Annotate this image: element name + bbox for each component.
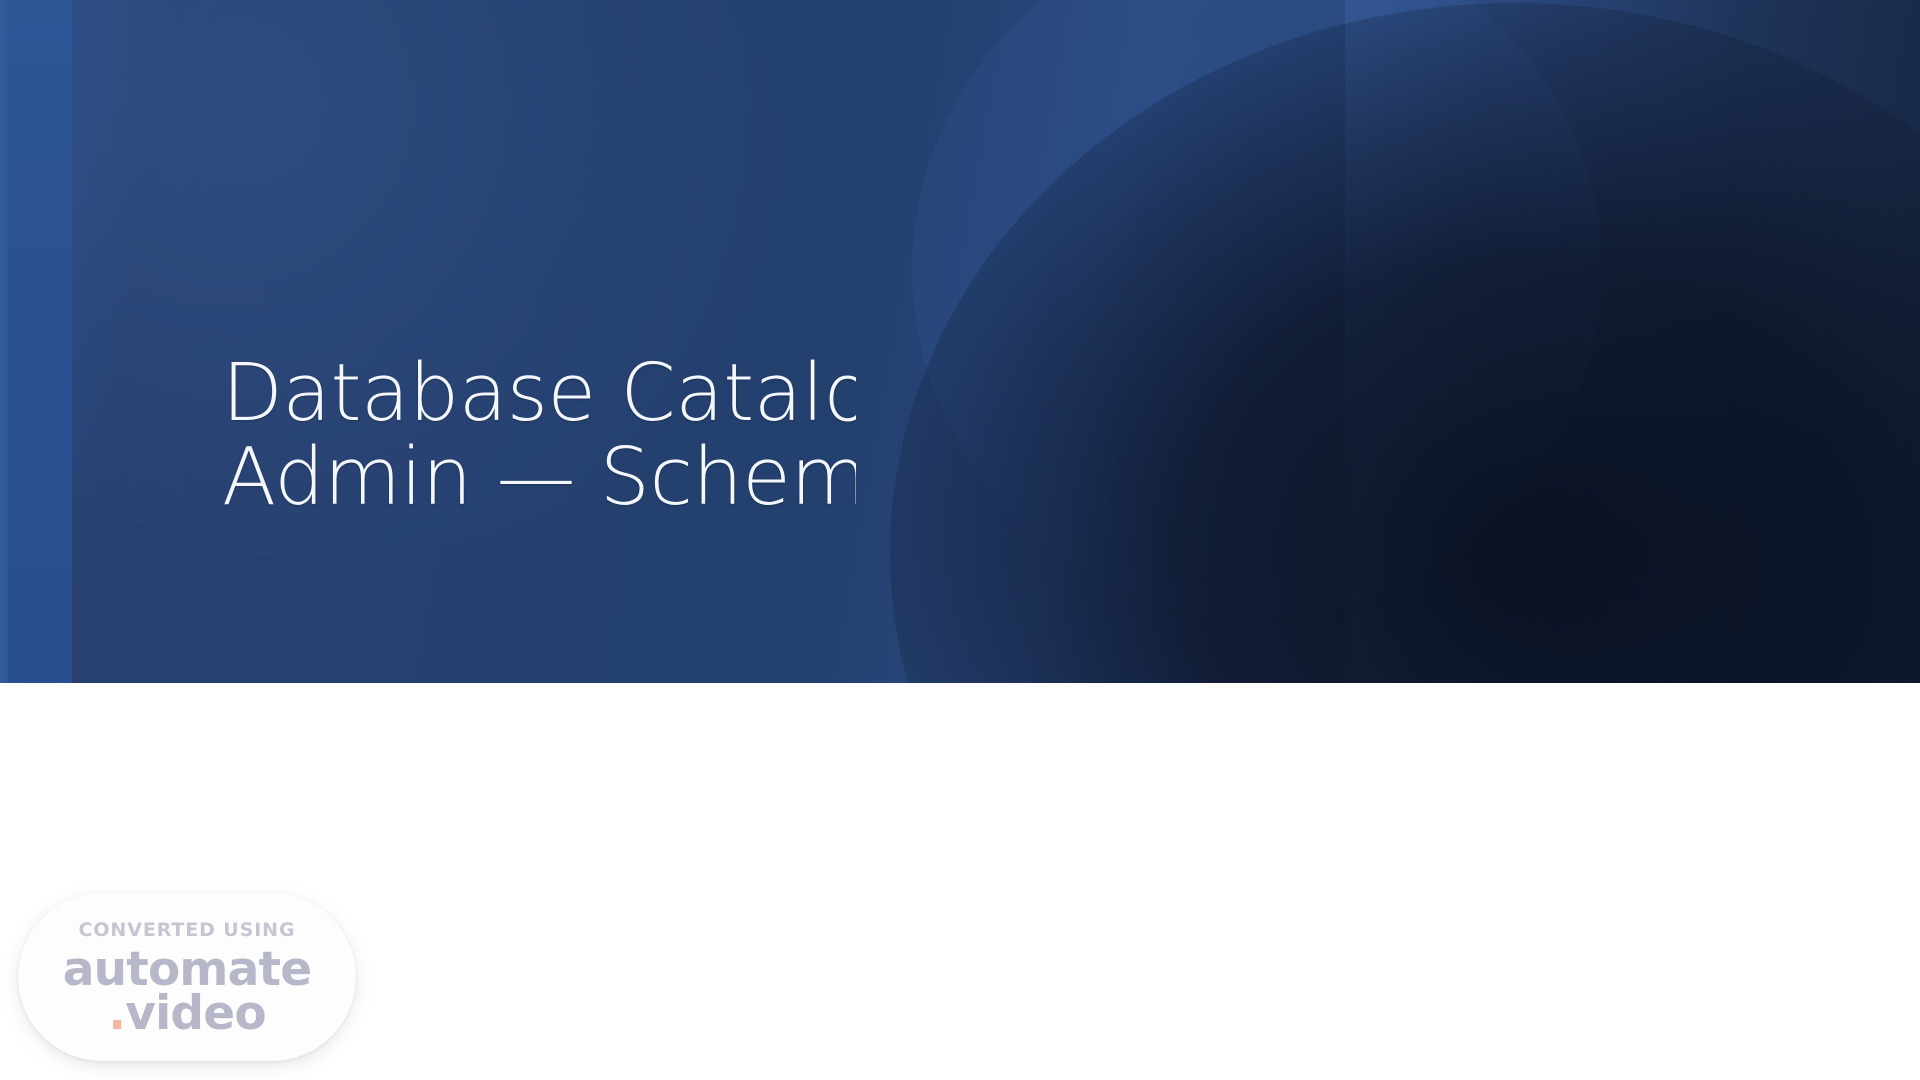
watermark-eyebrow-label: CONVERTED USING — [79, 921, 296, 940]
watermark-dot-accent: . — [108, 986, 125, 1041]
slide-header-banner: Database Catalog Admin — Schema — [0, 0, 1920, 683]
slide-title-container: Database Catalog Admin — Schema — [222, 352, 856, 582]
banner-left-stripe-edge — [0, 0, 8, 683]
slide-title-line-2: Admin — Schema — [222, 436, 856, 520]
presentation-slide: Database Catalog Admin — Schema CONVERTE… — [0, 0, 1920, 1080]
watermark-brand-suffix: .video — [108, 990, 266, 1038]
watermark-suffix-text: video — [125, 986, 266, 1041]
automate-video-watermark-badge[interactable]: CONVERTED USING automate .video — [18, 893, 356, 1061]
slide-title-line-1: Database Catalog — [222, 352, 856, 436]
banner-left-accent-stripe — [0, 0, 72, 683]
page-title: Database Catalog Admin — Schema — [222, 352, 856, 519]
